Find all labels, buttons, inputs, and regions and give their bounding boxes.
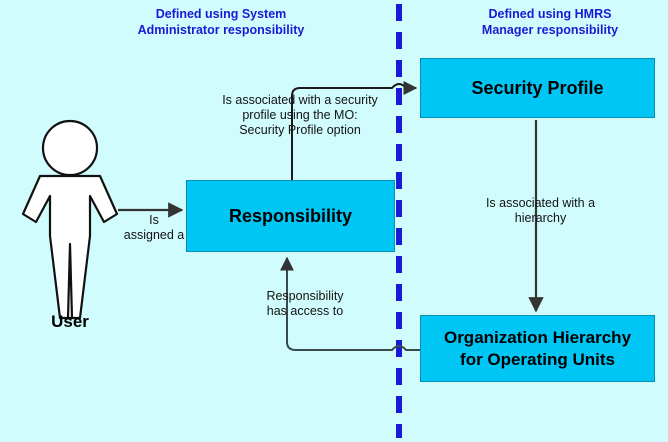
node-security-profile[interactable]: Security Profile xyxy=(420,58,655,118)
actor-label-user: User xyxy=(10,312,130,332)
node-responsibility[interactable]: Responsibility xyxy=(186,180,395,252)
person-icon xyxy=(16,118,124,326)
edge-label-hierarchy-association: Is associated with a hierarchy xyxy=(468,196,613,226)
diagram-canvas: Defined using System Administrator respo… xyxy=(0,0,668,442)
caption-right-zone: Defined using HMRS Manager responsibilit… xyxy=(432,6,668,38)
edge-label-is-assigned-a: Is assigned a xyxy=(112,213,196,243)
edge-label-security-association: Is associated with a security profile us… xyxy=(205,93,395,138)
node-organization-hierarchy[interactable]: Organization Hierarchy for Operating Uni… xyxy=(420,315,655,382)
caption-left-zone: Defined using System Administrator respo… xyxy=(103,6,339,38)
edge-label-responsibility-access: Responsibility has access to xyxy=(240,289,370,319)
